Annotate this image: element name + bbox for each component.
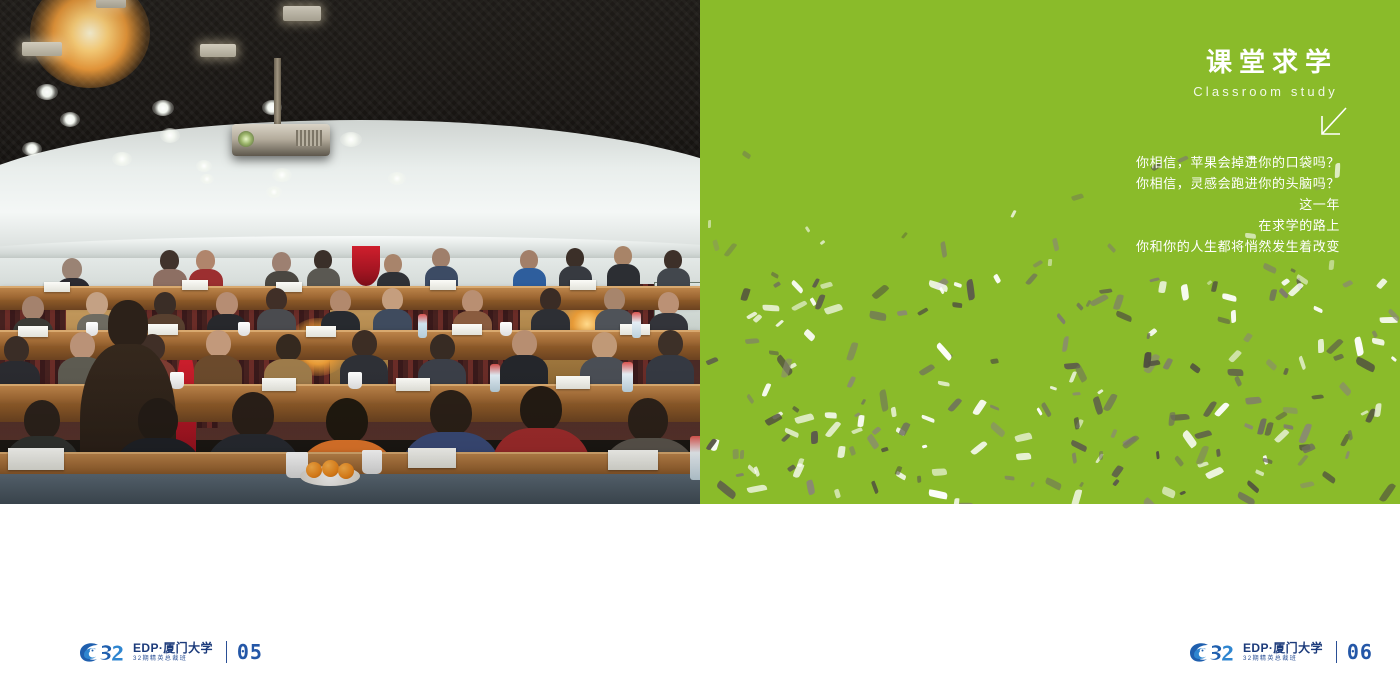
- name-card: [556, 376, 590, 389]
- petal-shape: [1318, 339, 1324, 353]
- petal-shape: [1112, 479, 1119, 487]
- petal-shape: [1044, 476, 1062, 490]
- petal-shape: [1342, 279, 1354, 288]
- paper-cup: [238, 322, 250, 336]
- recessed-light: [96, 0, 126, 8]
- petal-shape: [970, 440, 988, 456]
- petal-shape: [812, 277, 820, 287]
- petal-shape: [1056, 313, 1067, 325]
- petal-shape: [891, 406, 897, 416]
- petal-shape: [712, 239, 719, 251]
- petal-shape: [881, 447, 889, 452]
- downlight: [266, 186, 282, 198]
- petal-shape: [708, 220, 711, 228]
- petal-shape: [762, 304, 780, 311]
- edp-wave-32-logo-icon: [1186, 638, 1236, 666]
- poem-line: 你相信，灵感会跑进你的头脑吗？: [1136, 173, 1340, 194]
- petal-shape: [1050, 386, 1057, 391]
- petal-shape: [919, 364, 936, 377]
- petal-shape: [860, 399, 866, 406]
- petal-shape: [794, 413, 814, 424]
- petal-shape: [805, 225, 811, 232]
- petal-shape: [966, 278, 975, 300]
- petal-shape: [1075, 364, 1088, 382]
- petal-shape: [1194, 430, 1212, 440]
- petal-shape: [769, 350, 779, 355]
- petal-shape: [918, 307, 929, 315]
- petal-shape: [1016, 453, 1031, 461]
- petal-shape: [1373, 403, 1381, 418]
- petal-shape: [1237, 491, 1257, 504]
- petal-shape: [1179, 491, 1186, 496]
- poem-line: 这一年: [1136, 194, 1340, 215]
- petal-shape: [1284, 424, 1294, 429]
- recessed-light: [22, 42, 62, 56]
- petal-shape: [1111, 464, 1124, 478]
- petal-shape: [706, 357, 718, 365]
- petal-shape: [791, 279, 805, 293]
- petal-shape: [866, 433, 880, 450]
- petal-shape: [940, 242, 947, 258]
- petal-shape: [770, 271, 779, 278]
- petal-shape: [792, 300, 808, 311]
- brand-subtitle: 32期精英总裁班: [133, 656, 214, 662]
- name-card: [408, 448, 456, 468]
- poem-line: 你相信，苹果会掉进你的口袋吗？: [1136, 152, 1340, 173]
- orange-fruit: [306, 462, 322, 478]
- petal-shape: [972, 399, 987, 417]
- water-bottle: [632, 312, 641, 338]
- petal-shape: [1112, 294, 1124, 312]
- downlight: [152, 100, 174, 116]
- petal-shape: [1110, 428, 1117, 438]
- petal-shape: [1030, 481, 1035, 487]
- petal-shape: [990, 404, 1000, 411]
- page-title-cn: 课堂求学: [1193, 48, 1340, 78]
- petal-shape: [921, 445, 927, 449]
- petal-shape: [857, 415, 864, 428]
- name-card: [18, 326, 48, 337]
- arrow-down-left-icon: [1310, 104, 1354, 144]
- petal-shape: [1098, 389, 1104, 395]
- petal-shape: [1079, 481, 1085, 487]
- name-card: [452, 324, 482, 335]
- petal-shape: [1344, 451, 1349, 460]
- brand-divider: [226, 641, 227, 663]
- petal-shape: [1072, 453, 1078, 464]
- petal-shape: [952, 301, 962, 307]
- petal-shape: [1313, 305, 1324, 313]
- petal-shape: [1093, 396, 1104, 415]
- petal-shape: [716, 480, 737, 500]
- petal-shape: [1115, 310, 1133, 323]
- name-card: [570, 280, 596, 290]
- petal-shape: [1010, 209, 1017, 217]
- petal-shape: [1246, 396, 1262, 404]
- petal-shape: [724, 242, 738, 258]
- petal-shape: [1149, 277, 1159, 282]
- petal-shape: [849, 446, 856, 456]
- brand-text: EDP·厦门大学 32期精英总裁班: [133, 642, 213, 663]
- petal-shape: [1089, 293, 1109, 307]
- brand-divider: [1336, 641, 1337, 663]
- water-bottle: [418, 314, 427, 338]
- petal-shape: [1231, 310, 1236, 323]
- name-card: [8, 448, 64, 470]
- brand-name: EDP·厦门大学: [133, 642, 213, 654]
- petal-shape: [1265, 359, 1277, 371]
- petal-shape: [1262, 262, 1277, 273]
- petal-shape: [1107, 243, 1116, 253]
- petal-shape: [1354, 356, 1376, 373]
- petal-shape: [1052, 237, 1060, 251]
- name-card: [608, 450, 658, 470]
- petal-shape: [824, 420, 841, 438]
- petal-shape: [1245, 480, 1260, 495]
- recessed-light: [283, 6, 321, 21]
- petal-shape: [1328, 260, 1334, 271]
- petal-shape: [740, 450, 744, 460]
- footer-brand-right: EDP·厦门大学 32期精英总裁班 06: [1186, 638, 1373, 666]
- petal-shape: [773, 281, 781, 288]
- projector-mount-pole: [274, 58, 281, 130]
- petal-shape: [1143, 497, 1161, 504]
- petal-shape: [1071, 193, 1084, 201]
- water-bottle: [622, 362, 633, 392]
- petal-shape: [1005, 475, 1015, 480]
- petal-shape: [1206, 280, 1212, 285]
- petal-shape: [1076, 303, 1084, 311]
- name-card: [306, 326, 336, 337]
- petal-shape: [1098, 451, 1102, 460]
- petal-shape: [1211, 281, 1219, 293]
- petal-shape: [948, 397, 963, 412]
- petal-shape: [935, 342, 952, 361]
- red-banner: [352, 246, 380, 286]
- petal-shape: [735, 473, 744, 478]
- water-bottle: [690, 436, 700, 480]
- petal-shape: [846, 341, 859, 361]
- petal-shape: [1205, 466, 1225, 480]
- petal-shape: [1036, 408, 1043, 416]
- petal-shape: [746, 394, 755, 405]
- petal-shape: [989, 421, 1006, 438]
- petal-shape: [792, 405, 800, 412]
- orange-fruit: [322, 460, 339, 477]
- petal-shape: [802, 328, 815, 342]
- petal-shape: [1180, 284, 1189, 301]
- petal-shape: [901, 232, 908, 239]
- petal-shape: [764, 412, 782, 426]
- petal-shape: [1122, 435, 1140, 450]
- petal-shape: [754, 467, 760, 477]
- petal-shape: [1390, 356, 1397, 363]
- petal-shape: [1255, 469, 1265, 476]
- petal-shape: [1312, 394, 1324, 399]
- petal-shape: [819, 281, 832, 289]
- petal-shape: [747, 484, 768, 494]
- petal-shape: [834, 489, 841, 499]
- name-card: [182, 280, 208, 290]
- petal-shape: [1015, 432, 1033, 442]
- petal-shape: [1300, 481, 1314, 488]
- petal-shape: [938, 381, 950, 387]
- petal-shape: [1332, 353, 1343, 361]
- petal-shape: [1280, 277, 1290, 286]
- petal-shape: [775, 320, 784, 329]
- petal-shape: [1244, 422, 1253, 429]
- petal-shape: [837, 446, 846, 459]
- petal-shape: [1103, 392, 1119, 412]
- petal-shape: [1189, 363, 1201, 375]
- petal-shape: [824, 412, 837, 419]
- recessed-light: [200, 44, 236, 57]
- petal-shape: [1100, 288, 1113, 294]
- petal-shape: [1282, 367, 1288, 375]
- petal-shape: [1371, 337, 1385, 346]
- petal-shape: [928, 489, 948, 500]
- projector-vent: [296, 130, 322, 146]
- petal-shape: [1068, 371, 1076, 383]
- name-card: [262, 378, 296, 391]
- petal-shape: [1326, 338, 1344, 355]
- petal-shape: [878, 389, 888, 411]
- petal-shape: [806, 480, 815, 496]
- petal-shape: [897, 310, 907, 316]
- petal-shape: [1243, 332, 1253, 342]
- paper-cup: [500, 322, 512, 336]
- petal-shape: [1221, 292, 1237, 302]
- petal-shape: [740, 287, 751, 301]
- petal-shape: [824, 303, 843, 315]
- petal-shape: [954, 281, 963, 287]
- petal-shape: [762, 382, 772, 396]
- petal-shape: [1278, 288, 1289, 300]
- petal-shape: [1378, 482, 1396, 503]
- petal-shape: [1070, 439, 1088, 452]
- petal-shape: [1354, 337, 1364, 357]
- petal-shape: [851, 427, 863, 434]
- petal-shape: [1073, 392, 1081, 396]
- petal-shape: [810, 430, 818, 443]
- panel-poem: 你相信，苹果会掉进你的口袋吗？ 你相信，灵感会跑进你的头脑吗？ 这一年 在求学的…: [1136, 152, 1340, 257]
- downlight: [160, 128, 180, 143]
- petal-shape: [1156, 451, 1160, 459]
- page-number: 06: [1347, 640, 1373, 664]
- petal-shape: [1298, 422, 1313, 444]
- petal-shape: [1033, 260, 1043, 268]
- petal-shape: [745, 338, 759, 344]
- petal-shape: [1217, 316, 1231, 325]
- downlight: [36, 84, 58, 100]
- petal-shape: [869, 310, 888, 321]
- petal-shape: [993, 273, 1001, 283]
- petal-shape: [1062, 336, 1070, 352]
- petal-shape: [1269, 288, 1278, 301]
- downlight: [196, 160, 212, 172]
- downlight: [388, 172, 406, 185]
- petal-shape: [1158, 281, 1167, 294]
- photo-scene: [0, 0, 700, 504]
- water-bottle: [490, 364, 500, 392]
- petal-shape: [847, 376, 856, 388]
- poem-line: 在求学的路上: [1136, 215, 1340, 236]
- downlight: [340, 132, 362, 147]
- petal-shape: [898, 421, 911, 436]
- downlight: [22, 142, 42, 156]
- petal-shape: [990, 358, 999, 364]
- petal-shape: [871, 481, 879, 494]
- petal-shape: [1339, 381, 1353, 396]
- petal-shape: [1228, 349, 1242, 363]
- petal-shape: [1175, 455, 1185, 466]
- green-title-panel: 课堂求学 Classroom study 你相信，苹果会掉进你的口袋吗？ 你相信…: [700, 0, 1400, 504]
- petal-shape: [1041, 401, 1052, 417]
- petal-shape: [1297, 454, 1308, 466]
- page-title-en: Classroom study: [1193, 84, 1340, 99]
- petal-shape: [917, 476, 921, 483]
- petal-shape: [1275, 428, 1290, 443]
- petal-shape: [820, 240, 826, 245]
- petal-shape: [871, 283, 890, 300]
- spread-footer: EDP·厦门大学 32期精英总裁班 05 EDP·厦门大学 32期精英总裁班 0…: [0, 504, 1400, 700]
- orange-fruit: [338, 463, 354, 479]
- petal-shape: [1048, 259, 1052, 266]
- brand-subtitle: 32期精英总裁班: [1243, 656, 1324, 662]
- name-card: [396, 378, 430, 391]
- paper-cup: [362, 450, 382, 474]
- petal-shape: [1162, 357, 1173, 370]
- lecture-hall-photo: [0, 0, 700, 504]
- petal-shape: [1161, 486, 1177, 499]
- petal-shape: [932, 469, 947, 477]
- petal-shape: [733, 449, 739, 459]
- downlight: [60, 112, 80, 127]
- petal-shape: [1298, 356, 1306, 371]
- petal-shape: [1227, 368, 1244, 376]
- petal-shape: [1290, 268, 1295, 272]
- brand-text: EDP·厦门大学 32期精英总裁班: [1243, 642, 1323, 663]
- downlight: [112, 152, 132, 166]
- petal-shape: [1070, 489, 1082, 504]
- downlight: [272, 168, 292, 182]
- poem-line: 你和你的人生都将悄然发生着改变: [1136, 236, 1340, 257]
- petal-shape: [1234, 376, 1242, 387]
- brand-name: EDP·厦门大学: [1243, 642, 1323, 654]
- petal-shape: [1025, 273, 1038, 287]
- name-card: [430, 280, 456, 290]
- projector-lens: [238, 131, 254, 147]
- petal-shape: [1216, 449, 1221, 457]
- edp-wave-32-logo-icon: [76, 638, 126, 666]
- petal-shape: [741, 150, 751, 159]
- name-card: [44, 282, 70, 292]
- brochure-spread: 课堂求学 Classroom study 你相信，苹果会掉进你的口袋吗？ 你相信…: [0, 0, 1400, 700]
- petal-shape: [1377, 278, 1388, 289]
- page-number: 05: [237, 640, 263, 664]
- petal-shape: [1321, 470, 1336, 484]
- petal-shape: [1168, 411, 1176, 426]
- paper-cup: [348, 372, 362, 389]
- petal-shape: [921, 414, 935, 423]
- footer-brand-left: EDP·厦门大学 32期精英总裁班 05: [76, 638, 263, 666]
- downlight: [200, 174, 214, 184]
- panel-title-block: 课堂求学 Classroom study: [1193, 48, 1340, 99]
